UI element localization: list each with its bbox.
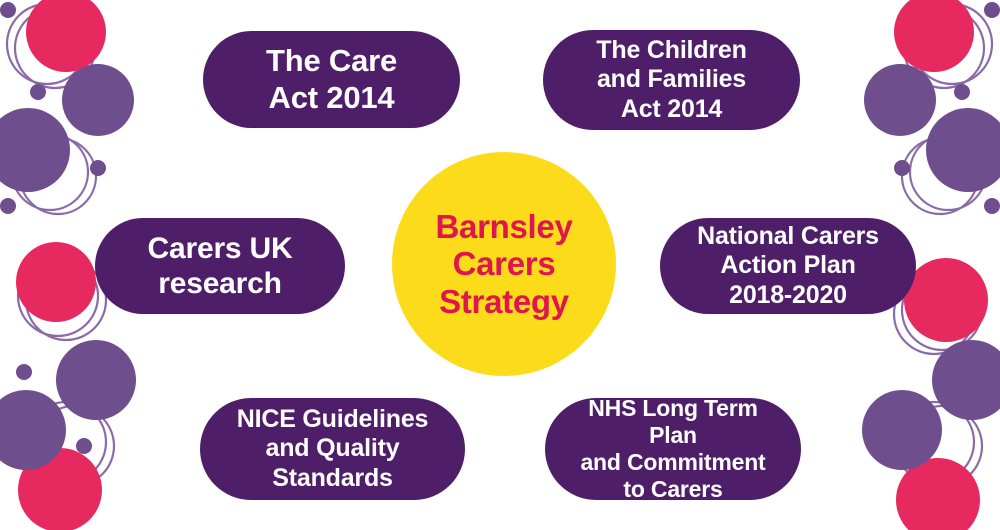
node-national-carers-action-plan[interactable]: National Carers Action Plan 2018-2020 [660,218,916,314]
node-national-carers-action-plan-label: National Carers Action Plan 2018-2020 [660,222,916,310]
center-hub-barnsley-carers-strategy[interactable]: Barnsley Carers Strategy [392,152,616,376]
node-care-act[interactable]: The Care Act 2014 [203,31,460,128]
node-carers-uk-research-label: Carers UK research [95,231,345,301]
node-carers-uk-research[interactable]: Carers UK research [95,218,345,314]
node-nhs-long-term-plan-label: NHS Long Term Plan and Commitment to Car… [545,395,801,503]
node-children-families-act[interactable]: The Children and Families Act 2014 [543,30,800,130]
center-hub-label: Barnsley Carers Strategy [435,208,572,320]
node-children-families-act-label: The Children and Families Act 2014 [543,36,800,124]
node-nice-guidelines-label: NICE Guidelines and Quality Standards [200,405,465,493]
node-nhs-long-term-plan[interactable]: NHS Long Term Plan and Commitment to Car… [545,398,801,500]
node-care-act-label: The Care Act 2014 [203,43,460,116]
node-nice-guidelines[interactable]: NICE Guidelines and Quality Standards [200,398,465,500]
infographic-canvas: The Care Act 2014 The Children and Famil… [0,0,1000,530]
